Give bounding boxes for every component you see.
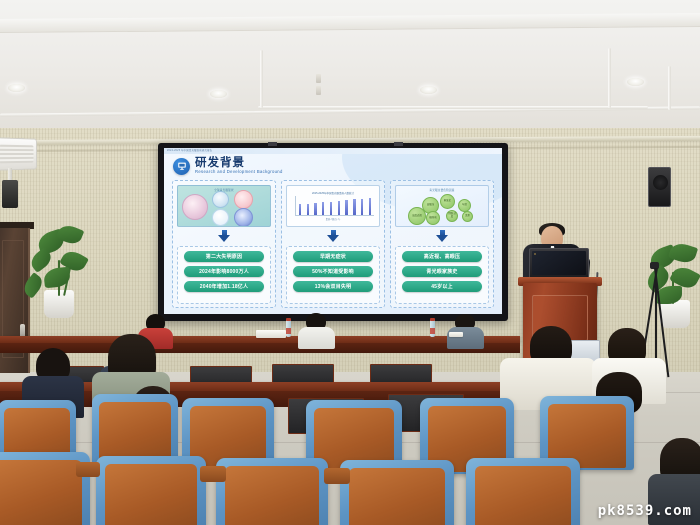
panel-3-pill-group: 高近视、高眼压 青光眼家族史 45岁以上 [395, 246, 489, 304]
chair-armrest [324, 468, 350, 484]
bar-2022 [353, 199, 355, 215]
bar-2018 [322, 202, 324, 215]
arrow-down-icon-3 [436, 230, 449, 243]
sprinkler-head-1 [316, 74, 321, 83]
chair-armrest [76, 462, 100, 477]
monitor-indicator-light [534, 253, 536, 255]
eye-illustration-5 [234, 208, 253, 227]
bar-2017 [314, 203, 316, 215]
risk-bubble-3: 高度近视 [408, 207, 426, 225]
bar-2015 [299, 204, 301, 215]
bar-2019 [330, 202, 332, 215]
ac-vent-grille [0, 145, 33, 164]
podium-monitor-screen [532, 251, 586, 275]
eye-illustration-4 [212, 209, 229, 226]
wall-projector-box [2, 180, 18, 208]
bar-2023 [361, 199, 363, 215]
bottle-label-2 [430, 328, 435, 334]
bubble-cluster: 高眼压家族史高度近视年龄糖尿病用眼 过度激素 [396, 191, 488, 226]
bar-2020 [338, 201, 340, 215]
plant-pot-right [660, 300, 690, 328]
slide-header: 研发背景 Research and Development Background [173, 157, 283, 175]
tripod-leg [655, 268, 657, 368]
slide-panel-symptoms: 2015-2025年中国青光眼患病人数统计 患病人数(万人) 早期无症状 50%… [281, 180, 385, 308]
chair-wood-panel [349, 468, 445, 525]
panel-2-pill-2: 50%不知道受影响 [293, 266, 374, 277]
slide-panel-risk-factors: 青光眼主要危险因素 高眼压家族史高度近视年龄糖尿病用眼 过度激素 高近视、高眼压… [390, 180, 494, 308]
downlight-4 [627, 78, 644, 86]
arrow-down-icon-2 [327, 230, 340, 243]
panel-3-pill-3: 45岁以上 [402, 281, 483, 292]
downlight-2 [210, 90, 227, 98]
panel-1-pill-group: 第二大失明原因 2024年影响8000万人 2040年增加1.18亿人 [177, 246, 271, 304]
chair-wood-panel [475, 466, 571, 525]
screen-mount-left [268, 142, 277, 146]
slide-title-cn: 研发背景 [195, 157, 283, 169]
sprinkler-pipe-upper [258, 106, 648, 109]
bar-2024 [369, 198, 371, 215]
chair-wood-panel [99, 402, 171, 464]
notebook-sheet [449, 332, 463, 337]
wall-speaker [648, 167, 671, 207]
bottle-cap-2 [430, 318, 435, 321]
mini-bar-chart: 2015-2025年中国青光眼患病人数统计 患病人数(万人) [290, 192, 376, 221]
sprinkler-head-2 [316, 86, 321, 95]
pipe-drop-1 [260, 50, 263, 108]
ceiling [0, 0, 700, 132]
downlight-3 [420, 86, 437, 94]
eye-illustration-2 [212, 191, 229, 208]
panel-1-pill-2: 2024年影响8000万人 [184, 266, 265, 277]
chair-wood-panel [105, 464, 197, 525]
slide-panel-group: 全球青光眼现状 第二大失明原因 2024年影响8000万人 2040年增加1.1… [172, 180, 494, 308]
risk-bubble-6: 用眼 过度 [446, 210, 458, 222]
person-torso [447, 327, 484, 349]
projection-screen[interactable]: 2024-2025 年中国青光眼疾病研究报告 研发背景 Research and… [158, 143, 508, 321]
document-stack[interactable] [256, 330, 286, 338]
risk-bubble-2: 家族史 [440, 194, 455, 209]
panel-1-pill-1: 第二大失明原因 [184, 251, 265, 262]
panel-2-illustration: 2015-2025年中国青光眼患病人数统计 患病人数(万人) [286, 185, 380, 227]
eye-illustration-main [182, 194, 208, 220]
ceiling-beam [0, 13, 700, 33]
bar-2021 [345, 200, 347, 215]
speaker-cone-icon [653, 175, 668, 190]
chair-wood-panel [225, 466, 319, 525]
panel-3-pill-2: 青光眼家族史 [402, 266, 483, 277]
risk-bubble-4: 年龄 [458, 199, 471, 212]
desk-row-far-front [0, 343, 520, 353]
bar-2016 [307, 204, 309, 215]
screen-mount-right [394, 142, 403, 146]
panel-1-pill-3: 2040年增加1.18亿人 [184, 281, 265, 292]
conference-room-photo: 2024-2025 年中国青光眼疾病研究报告 研发背景 Research and… [0, 0, 700, 525]
slide-title-en: Research and Development Background [195, 169, 283, 175]
pipe-drop-2 [608, 48, 611, 108]
presentation-screen-icon [173, 158, 190, 175]
pipe-drop-3 [668, 66, 671, 110]
risk-bubble-7: 激素 [462, 211, 473, 222]
mini-chart-xlabel: 患病人数(万人) [290, 217, 376, 221]
arrow-down-icon-1 [218, 230, 231, 243]
wall-air-conditioner [0, 137, 37, 171]
panel-2-pill-group: 早期无症状 50%不知道受影响 13%会双目失明 [286, 246, 380, 304]
chair-wood-panel [0, 460, 82, 525]
risk-bubble-5: 糖尿病 [426, 211, 440, 225]
eye-illustration-3 [234, 190, 253, 209]
mini-chart-title: 2015-2025年中国青光眼患病人数统计 [290, 192, 376, 195]
panel-3-illustration: 青光眼主要危险因素 高眼压家族史高度近视年龄糖尿病用眼 过度激素 [395, 185, 489, 227]
downlight-1 [8, 84, 25, 92]
bottle-cap-1 [286, 318, 291, 321]
chair-armrest [200, 466, 226, 482]
slide-panel-epidemiology: 全球青光眼现状 第二大失明原因 2024年影响8000万人 2040年增加1.1… [172, 180, 276, 308]
mini-chart-plot [295, 196, 374, 216]
panel-1-illustration: 全球青光眼现状 [177, 185, 271, 227]
panel-3-pill-1: 高近视、高眼压 [402, 251, 483, 262]
panel-2-pill-3: 13%会双目失明 [293, 281, 374, 292]
bottle-label-1 [286, 328, 291, 334]
person-torso [298, 327, 335, 349]
panel-2-pill-1: 早期无症状 [293, 251, 374, 262]
presentation-slide: 2024-2025 年中国青光眼疾病研究报告 研发背景 Research and… [164, 148, 502, 314]
site-watermark: pk8539.com [598, 503, 692, 519]
slide-topbar-text: 2024-2025 年中国青光眼疾病研究报告 [164, 148, 502, 154]
